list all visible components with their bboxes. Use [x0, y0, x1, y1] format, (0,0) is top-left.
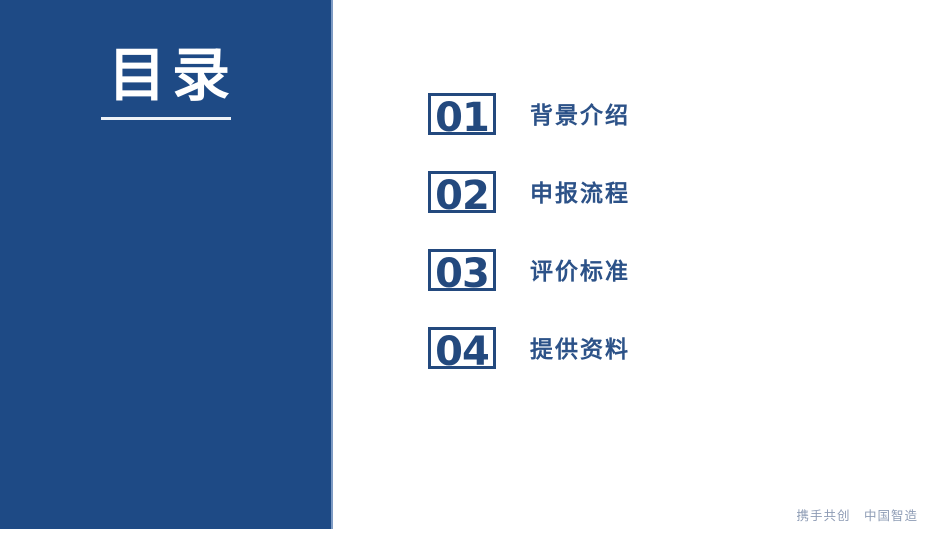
page-title-underline	[101, 117, 231, 120]
toc-number: 04	[428, 327, 496, 369]
footer-slogan: 携手共创 中国智造	[796, 508, 918, 524]
toc-label: 评价标准	[530, 251, 630, 291]
toc-number: 02	[428, 171, 496, 213]
page-title: 目录	[108, 40, 236, 112]
toc-item[interactable]: 03 评价标准	[428, 249, 898, 327]
toc-number: 03	[428, 249, 496, 291]
table-of-contents: 01 背景介绍 02 申报流程 03 评价标准 04 提供资料	[428, 93, 898, 405]
toc-item[interactable]: 01 背景介绍	[428, 93, 898, 171]
toc-number: 01	[428, 93, 496, 135]
slide-canvas: 目录 01 背景介绍 02 申报流程 03 评价标准 04 提供资料 携手共创 …	[0, 0, 950, 535]
toc-label: 申报流程	[530, 173, 630, 213]
toc-label: 提供资料	[530, 329, 630, 369]
toc-item[interactable]: 04 提供资料	[428, 327, 898, 405]
left-panel-edge	[331, 0, 333, 529]
toc-item[interactable]: 02 申报流程	[428, 171, 898, 249]
toc-label: 背景介绍	[530, 95, 630, 135]
